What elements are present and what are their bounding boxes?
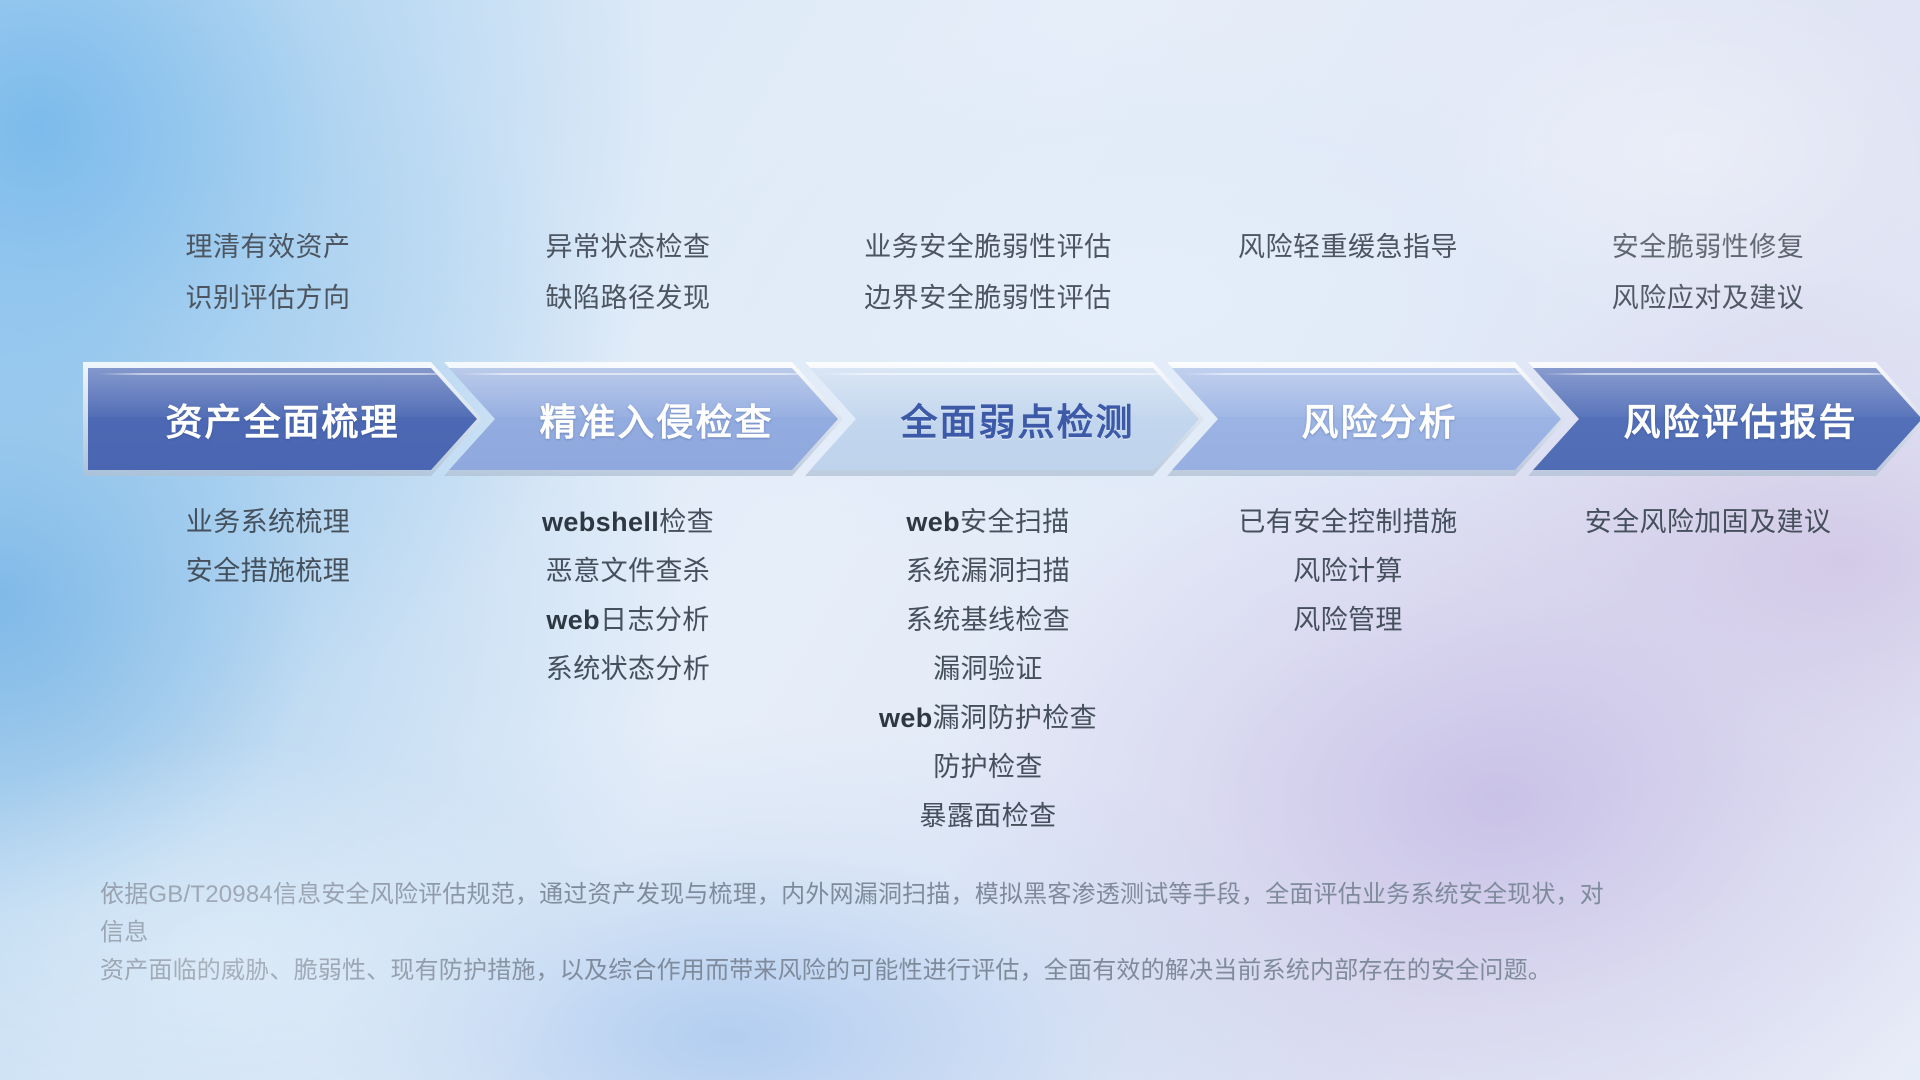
- footer-line-2: 资产面临的威胁、脆弱性、现有防护措施，以及综合作用而带来风险的可能性进行评估，全…: [100, 952, 1620, 990]
- task-item: web日志分析: [546, 596, 709, 645]
- task-item: 暴露面检查: [920, 792, 1057, 841]
- output-item: 边界安全脆弱性评估: [864, 279, 1112, 318]
- outputs-column-assessment-report: 安全脆弱性修复风险应对及建议: [1528, 228, 1888, 318]
- output-item: 业务安全脆弱性评估: [864, 228, 1112, 267]
- chevron-stage-intrusion-check[interactable]: 精准入侵检查: [449, 368, 838, 470]
- stage-tasks-row: 业务系统梳理安全措施梳理webshell检查恶意文件查杀web日志分析系统状态分…: [88, 498, 1888, 841]
- outputs-column-weakness-detection: 业务安全脆弱性评估边界安全脆弱性评估: [808, 228, 1168, 318]
- tasks-column-asset-inventory: 业务系统梳理安全措施梳理: [88, 498, 448, 841]
- task-item-en: web: [546, 605, 600, 635]
- task-item: 风险管理: [1293, 596, 1403, 645]
- chevron-stage-assessment-report[interactable]: 风险评估报告: [1533, 368, 1920, 470]
- outputs-column-risk-analysis: 风险轻重缓急指导: [1168, 228, 1528, 318]
- chevron-label: 风险分析: [1276, 392, 1458, 446]
- output-item: 识别评估方向: [186, 279, 351, 318]
- task-item-en: web: [906, 507, 960, 537]
- outputs-column-asset-inventory: 理清有效资产识别评估方向: [88, 228, 448, 318]
- output-item: 异常状态检查: [546, 228, 711, 267]
- slide-canvas: 理清有效资产识别评估方向异常状态检查缺陷路径发现业务安全脆弱性评估边界安全脆弱性…: [0, 0, 1920, 1080]
- task-item-en: web: [879, 703, 933, 733]
- chevron-stage-risk-analysis[interactable]: 风险分析: [1172, 368, 1561, 470]
- task-item: 系统漏洞扫描: [906, 547, 1070, 596]
- task-item: 安全风险加固及建议: [1585, 498, 1832, 547]
- task-item: 已有安全控制措施: [1238, 498, 1457, 547]
- task-item-cn: 检查: [659, 507, 714, 537]
- task-item: webshell检查: [542, 498, 714, 547]
- chevron-label: 资产全面梳理: [166, 392, 400, 446]
- output-item: 风险应对及建议: [1612, 279, 1805, 318]
- chevron-stage-weakness-detection[interactable]: 全面弱点检测: [810, 368, 1199, 470]
- stage-outputs-row: 理清有效资产识别评估方向异常状态检查缺陷路径发现业务安全脆弱性评估边界安全脆弱性…: [88, 228, 1888, 318]
- task-item-cn: 漏洞防护检查: [933, 703, 1097, 733]
- output-item: 安全脆弱性修复: [1612, 228, 1805, 267]
- slide-content: 理清有效资产识别评估方向异常状态检查缺陷路径发现业务安全脆弱性评估边界安全脆弱性…: [0, 0, 1920, 1080]
- outputs-column-intrusion-check: 异常状态检查缺陷路径发现: [448, 228, 808, 318]
- task-item-cn: 安全扫描: [960, 507, 1070, 537]
- chevron-label: 全面弱点检测: [875, 392, 1135, 446]
- task-item: 漏洞验证: [933, 645, 1043, 694]
- task-item: web漏洞防护检查: [879, 694, 1097, 743]
- task-item: 防护检查: [933, 743, 1043, 792]
- footer-description: 依据GB/T20984信息安全风险评估规范，通过资产发现与梳理，内外网漏洞扫描，…: [100, 876, 1620, 990]
- tasks-column-intrusion-check: webshell检查恶意文件查杀web日志分析系统状态分析: [448, 498, 808, 841]
- task-item: 系统状态分析: [546, 645, 710, 694]
- task-item: 风险计算: [1293, 547, 1403, 596]
- output-item: 风险轻重缓急指导: [1238, 228, 1458, 267]
- task-item: 系统基线检查: [906, 596, 1070, 645]
- chevron-label: 精准入侵检查: [514, 392, 774, 446]
- task-item: web安全扫描: [906, 498, 1069, 547]
- output-item: 理清有效资产: [186, 228, 351, 267]
- tasks-column-weakness-detection: web安全扫描系统漏洞扫描系统基线检查漏洞验证web漏洞防护检查防护检查暴露面检…: [808, 498, 1168, 841]
- task-item: 业务系统梳理: [186, 498, 350, 547]
- tasks-column-assessment-report: 安全风险加固及建议: [1528, 498, 1888, 841]
- chevron-label: 风险评估报告: [1598, 392, 1858, 446]
- footer-line-1: 依据GB/T20984信息安全风险评估规范，通过资产发现与梳理，内外网漏洞扫描，…: [100, 876, 1620, 952]
- chevron-stage-asset-inventory[interactable]: 资产全面梳理: [88, 368, 477, 470]
- task-item-cn: 日志分析: [600, 605, 710, 635]
- task-item: 安全措施梳理: [186, 547, 350, 596]
- tasks-column-risk-analysis: 已有安全控制措施风险计算风险管理: [1168, 498, 1528, 841]
- task-item-en: webshell: [542, 507, 659, 537]
- output-item: 缺陷路径发现: [546, 279, 711, 318]
- task-item: 恶意文件查杀: [546, 547, 710, 596]
- process-chevron-band: 资产全面梳理精准入侵检查全面弱点检测风险分析风险评估报告: [88, 368, 1888, 470]
